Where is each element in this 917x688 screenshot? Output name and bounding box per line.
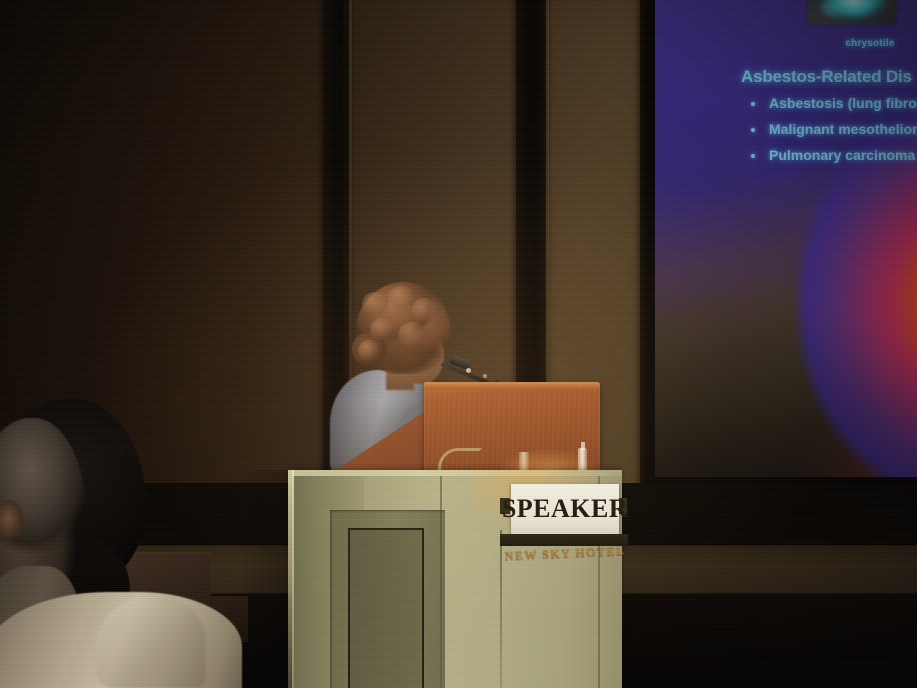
microphone-highlight (483, 374, 487, 378)
presenter-hair-curl (398, 322, 426, 348)
podium-left-highlight (288, 470, 294, 688)
presentation-photo-scene: chrysotile Asbestos-Related Dis Asbestos… (0, 0, 917, 688)
presenter-hair-curl (358, 340, 380, 362)
presenter-hair-curl (412, 298, 438, 324)
podium-seam (440, 476, 442, 688)
presenter-hair-curl (362, 292, 388, 316)
audience-shirt-fold (96, 596, 206, 688)
presenter-hair-curl (370, 318, 394, 342)
speaker-sign: SPEAKER (511, 484, 619, 534)
podium-panel-inner (348, 528, 424, 688)
presenter-hair-curl (388, 286, 416, 308)
speaker-sign-text: SPEAKER (502, 494, 628, 524)
microphone-highlight (466, 368, 471, 373)
podium-top-lip (424, 382, 600, 389)
podium-top-edge (292, 470, 622, 476)
